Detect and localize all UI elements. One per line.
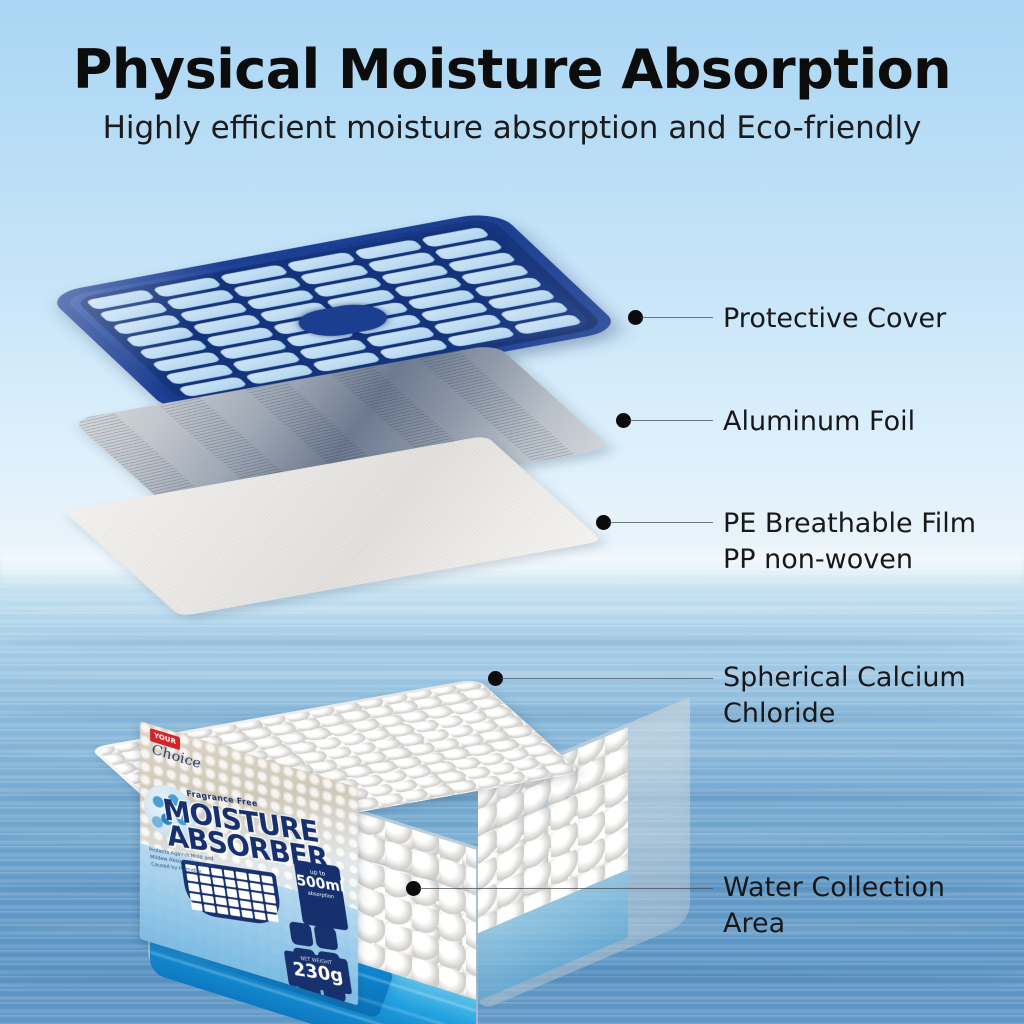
container-tub-part: YOUR Choice Fragrance Free MOISTUREABSOR… xyxy=(60,575,700,975)
callout-aluminum-foil: Aluminum Foil xyxy=(723,404,915,440)
callout-spherical-calcium-chloride: Spherical Calcium Chloride xyxy=(723,660,966,732)
tub-body: YOUR Choice Fragrance Free MOISTUREABSOR… xyxy=(130,635,650,935)
page-subtitle: Highly efficient moisture absorption and… xyxy=(0,110,1024,146)
leader-line-pe-breathable-film xyxy=(609,522,713,523)
icon-home xyxy=(289,921,314,947)
page-title: Physical Moisture Absorption xyxy=(0,38,1024,101)
leader-line-protective-cover xyxy=(641,317,713,318)
infographic-canvas: Physical Moisture Absorption Highly effi… xyxy=(0,0,1024,1024)
leader-line-water-collection-area xyxy=(419,888,713,889)
icon-wardrobe xyxy=(313,925,338,951)
callout-pe-breathable-film: PE Breathable Film PP non-woven xyxy=(723,506,976,578)
leader-line-aluminum-foil xyxy=(629,420,713,421)
callout-protective-cover: Protective Cover xyxy=(723,301,946,337)
leader-line-spherical-calcium-chloride xyxy=(501,678,713,679)
callout-water-collection-area: Water Collection Area xyxy=(723,870,945,942)
